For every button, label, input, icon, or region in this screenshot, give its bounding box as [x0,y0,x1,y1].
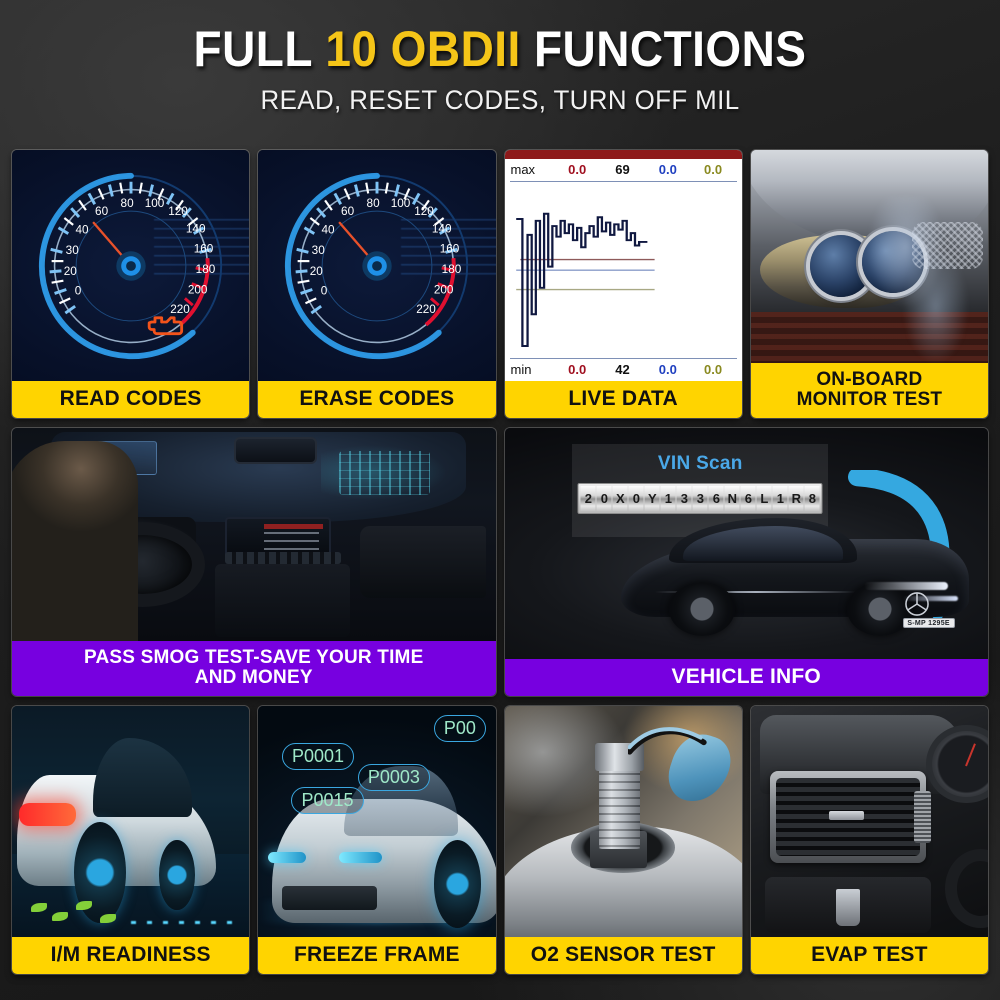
headlight-strip [864,582,948,590]
min-value-3: 0.0 [645,362,690,377]
vin-scene: VIN Scan 20X0Y1336N6L1R8 [505,428,989,659]
live-data-media: max 0.0 69 0.0 0.0 [505,150,742,381]
im-scene [12,706,249,937]
dtc-bubble: P0003 [358,764,430,791]
svg-text:100: 100 [144,197,164,210]
speedometer-media: 020 3040 6080 100120 140160 180200 220 [258,150,495,381]
tile-label-vehicle-info: VEHICLE INFO [505,659,989,696]
tile-read-codes[interactable]: 020 3040 6080 100120 140160 180200 220 [12,150,249,418]
live-data-top-bar [505,150,742,159]
front-wheel [159,840,195,909]
license-plate: S-MP 1295E [903,618,955,627]
min-value-4: 0.0 [690,362,735,377]
tile-label-im-readiness: I/M READINESS [12,937,249,974]
center-vents [225,552,341,565]
cockpit-photo [12,428,496,641]
live-data-min-row: min 0.0 42 0.0 0.0 [505,359,742,381]
tile-im-readiness[interactable]: I/M READINESS [12,706,249,974]
svg-text:60: 60 [341,205,355,218]
header: FULL 10 OBDII FUNCTIONS READ, RESET CODE… [0,0,1000,116]
svg-text:120: 120 [168,205,188,218]
tile-erase-codes[interactable]: 020 3040 6080 100120 140160 180200 220 [258,150,495,418]
vent-bezel [770,771,927,864]
title-pre: FULL [194,21,326,77]
mercedes-star-icon [904,591,930,617]
max-label: max [511,162,555,177]
vent-knob [914,791,931,843]
feature-grid: 020 3040 6080 100120 140160 180200 220 [12,150,988,974]
min-value-2: 42 [600,362,645,377]
page-title: FULL 10 OBDII FUNCTIONS [40,24,960,75]
evap-scene [751,706,988,937]
o2-scene [505,706,742,937]
tile-vehicle-info[interactable]: VIN Scan 20X0Y1336N6L1R8 [505,428,989,696]
white-car-photo [12,706,249,937]
title-post: FUNCTIONS [521,21,807,77]
min-label: min [511,362,555,377]
steering-wheel-edge [945,849,988,928]
ignition-key [836,889,860,926]
promo-banner: FULL 10 OBDII FUNCTIONS READ, RESET CODE… [0,0,1000,1000]
vin-character: 0 [597,486,612,511]
max-value-1: 0.0 [555,162,600,177]
front-wheel [434,840,481,928]
speedometer-mil-media: 020 3040 6080 100120 140160 180200 220 [12,150,249,381]
live-data-max-row: max 0.0 69 0.0 0.0 [505,159,742,181]
max-value-4: 0.0 [690,162,735,177]
svg-text:0: 0 [74,284,81,297]
dashboard-right [360,526,486,598]
speedometer-gauge: 020 3040 6080 100120 140160 180200 220 [33,168,229,364]
headlight-right [339,852,382,864]
svg-text:0: 0 [321,284,328,297]
front-grille [282,886,377,909]
vin-scan-title: VIN Scan [572,453,828,475]
svg-text:40: 40 [75,223,89,236]
tile-live-data[interactable]: max 0.0 69 0.0 0.0 [505,150,742,418]
tile-label-live-data: LIVE DATA [505,381,742,418]
svg-text:140: 140 [432,222,452,235]
check-engine-icon [145,312,185,338]
title-highlight: 10 OBDII [325,21,520,77]
svg-text:160: 160 [193,242,213,255]
tile-evap-test[interactable]: EVAP TEST [751,706,988,974]
tile-freeze-frame[interactable]: P0001 P0003 P0015 P00 FREEZE FRAME [258,706,495,974]
live-data-plot [510,181,737,359]
vin-scan-media: VIN Scan 20X0Y1336N6L1R8 [505,428,989,659]
dtc-bubble: P0001 [282,743,354,770]
speedometer-gauge: 020 3040 6080 100120 140160 180200 220 [279,168,475,364]
svg-text:80: 80 [366,197,380,210]
svg-text:80: 80 [120,197,134,210]
svg-text:200: 200 [434,283,454,296]
o2-sensor-photo [505,706,742,937]
tile-label-freeze-frame: FREEZE FRAME [258,937,495,974]
svg-text:200: 200 [187,283,207,296]
sedan-car: S-MP 1295E [621,504,969,638]
tile-label-o2-sensor-test: O2 SENSOR TEST [505,937,742,974]
svg-text:30: 30 [65,244,79,257]
svg-text:60: 60 [95,205,109,218]
tile-label-on-board-monitor: ON-BOARD MONITOR TEST [751,363,988,418]
rear-view-mirror [234,437,316,465]
exhaust-smoke [865,197,979,363]
driver-figure [12,441,138,641]
tile-on-board-monitor[interactable]: ON-BOARD MONITOR TEST [751,150,988,418]
svg-text:20: 20 [63,264,77,277]
svg-text:220: 220 [416,303,436,316]
dtc-bubble: P0015 [291,787,363,814]
dtc-car-media: P0001 P0003 P0015 P00 [258,706,495,937]
rear-wheel [669,582,735,636]
freeze-frame-scene: P0001 P0003 P0015 P00 [258,706,495,937]
min-value-1: 0.0 [555,362,600,377]
svg-text:180: 180 [442,263,462,276]
center-console [215,564,350,636]
svg-text:120: 120 [414,205,434,218]
exhaust-photo [751,150,988,363]
svg-text:30: 30 [312,244,326,257]
page-subtitle: READ, RESET CODES, TURN OFF MIL [20,85,980,116]
exhaust-scene [751,150,988,363]
svg-text:140: 140 [186,222,206,235]
tile-label-evap-test: EVAP TEST [751,937,988,974]
vent-adjust-tab [829,811,863,819]
front-wheel [847,582,913,636]
svg-text:180: 180 [195,263,215,276]
car-rear-glass [93,738,193,817]
tile-label-read-codes: READ CODES [12,381,249,418]
max-value-2: 69 [600,162,645,177]
vin-character: 2 [581,486,596,511]
headlight-left [268,852,306,864]
tile-pass-smog[interactable]: PASS SMOG TEST-SAVE YOUR TIME AND MONEY [12,428,496,696]
tile-o2-sensor-test[interactable]: O2 SENSOR TEST [505,706,742,974]
dtc-bubble-truncated: P00 [434,715,486,742]
sensor-wire [628,725,723,776]
tile-label-pass-smog: PASS SMOG TEST-SAVE YOUR TIME AND MONEY [12,641,496,696]
svg-text:160: 160 [440,242,460,255]
svg-text:20: 20 [310,264,324,277]
max-value-3: 0.0 [645,162,690,177]
dash-vent-photo [751,706,988,937]
live-data-panel: max 0.0 69 0.0 0.0 [505,150,742,381]
svg-text:40: 40 [321,223,335,236]
tile-label-erase-codes: ERASE CODES [258,381,495,418]
hud-overlay-right [321,445,447,500]
svg-text:100: 100 [391,197,411,210]
tail-light [19,803,76,826]
cockpit-scene [12,428,496,641]
